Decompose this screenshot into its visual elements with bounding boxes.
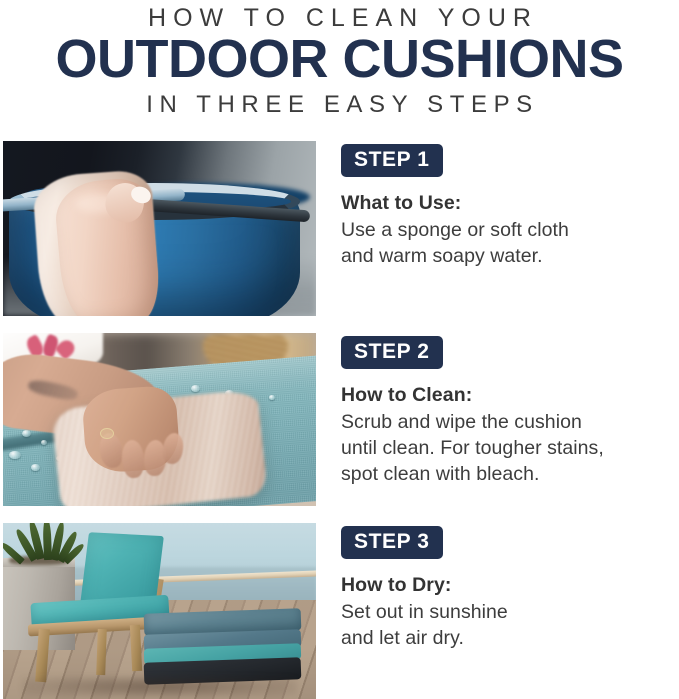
step-3-photo [3,523,316,699]
water-droplet [22,430,31,437]
step-1-photo [3,141,316,316]
step-row-1: STEP 1 What to Use: Use a sponge or soft… [0,141,679,316]
infographic-poster: HOW TO CLEAN YOUR OUTDOOR CUSHIONS IN TH… [0,0,679,699]
step-2-text: STEP 2 How to Clean: Scrub and wipe the … [341,333,679,506]
chaise-leg-mid [96,628,107,674]
poster-header: HOW TO CLEAN YOUR OUTDOOR CUSHIONS IN TH… [0,0,679,132]
header-subkicker: IN THREE EASY STEPS [0,90,679,120]
step-3-text: STEP 3 How to Dry: Set out in sunshine a… [341,523,679,699]
step-row-2: STEP 2 How to Clean: Scrub and wipe the … [0,333,679,506]
step-badge-3: STEP 3 [341,526,443,559]
cushion-stack-shadow [22,676,297,697]
step-1-body: Use a sponge or soft cloth and warm soap… [341,217,679,269]
step-1-text: STEP 1 What to Use: Use a sponge or soft… [341,141,679,316]
water-droplet [269,395,275,399]
step-1-heading: What to Use: [341,191,679,216]
step-3-heading: How to Dry: [341,573,679,598]
step-row-3: STEP 3 How to Dry: Set out in sunshine a… [0,523,679,699]
step-2-photo [3,333,316,506]
stacked-cushions [144,611,301,685]
water-droplet [191,385,200,392]
water-droplet [9,451,20,459]
step-2-body: Scrub and wipe the cushion until clean. … [341,409,679,487]
step-badge-2: STEP 2 [341,336,443,369]
step-3-body: Set out in sunshine and let air dry. [341,599,679,651]
page-title: OUTDOOR CUSHIONS [0,30,679,88]
step-2-heading: How to Clean: [341,383,679,408]
water-droplet [31,464,40,470]
step-badge-1: STEP 1 [341,144,443,177]
